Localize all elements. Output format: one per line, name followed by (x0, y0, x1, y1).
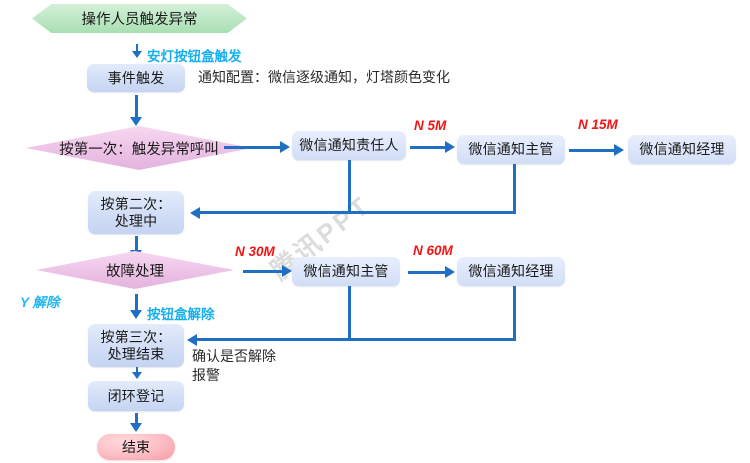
arrow-right-icon (445, 141, 455, 153)
node-closed-loop: 闭环登记 (88, 381, 184, 411)
connector-owner-drop (348, 160, 351, 213)
label-trigger-action: 安灯按钮盒触发 (147, 45, 242, 65)
node-notify-supervisor-2-label: 微信通知主管 (303, 263, 388, 280)
node-start: 操作人员触发异常 (32, 4, 247, 33)
node-press-third-label: 按第三次： 处理结束 (101, 329, 172, 363)
connector-press1-to-owner (224, 146, 282, 149)
node-closed-loop-label: 闭环登记 (108, 388, 165, 405)
node-press-first-label: 按第一次：触发异常呼叫 (59, 138, 219, 159)
node-end: 结束 (97, 434, 175, 460)
connector-supervisor-to-manager-2 (408, 271, 448, 274)
arrow-left-icon (190, 207, 200, 219)
arrow-right-icon (282, 265, 292, 277)
label-notify-config: 通知配置：微信逐级通知，灯塔颜色变化 (198, 68, 450, 87)
node-notify-manager-1: 微信通知经理 (628, 135, 736, 164)
node-event-trigger-label: 事件触发 (108, 70, 165, 87)
connector-manager2-drop (513, 286, 516, 340)
label-timer-60m: N 60M (413, 243, 453, 258)
node-notify-supervisor-2: 微信通知主管 (292, 257, 400, 286)
node-notify-manager-2: 微信通知经理 (457, 257, 565, 286)
connector-owner-to-supervisor-1 (410, 146, 448, 149)
arrow-down-icon (132, 51, 142, 58)
node-notify-supervisor-1-label: 微信通知主管 (468, 141, 553, 158)
node-press-first: 按第一次：触发异常呼叫 (26, 126, 252, 170)
node-notify-manager-1-label: 微信通知经理 (639, 141, 724, 158)
arrow-right-icon (280, 141, 290, 153)
arrow-left-icon (187, 334, 197, 346)
label-release-branch: Y 解除 (20, 291, 60, 311)
label-confirm-note: 确认是否解除 报警 (192, 347, 276, 385)
arrow-down-icon (130, 423, 142, 432)
arrow-right-icon (445, 266, 455, 278)
arrow-right-icon (614, 144, 624, 156)
connector-supervisor2-drop (348, 286, 351, 340)
connector-supervisor-to-manager-1 (569, 149, 617, 152)
node-fault-handling: 故障处理 (36, 251, 234, 289)
arrow-down-icon (132, 372, 142, 379)
node-notify-owner-1-label: 微信通知责任人 (299, 137, 398, 154)
arrow-down-icon (130, 310, 142, 319)
node-notify-manager-2-label: 微信通知经理 (468, 263, 553, 280)
node-press-third: 按第三次： 处理结束 (88, 324, 184, 367)
node-start-label: 操作人员触发异常 (82, 8, 198, 29)
node-end-label: 结束 (122, 437, 150, 457)
label-timer-30m: N 30M (235, 244, 275, 259)
label-timer-5m: N 5M (414, 118, 446, 133)
node-fault-handling-label: 故障处理 (106, 260, 164, 281)
node-notify-supervisor-1: 微信通知主管 (457, 135, 565, 164)
node-press-second-label: 按第二次： 处理中 (101, 196, 172, 230)
node-press-second: 按第二次： 处理中 (88, 191, 184, 234)
label-release-action: 按钮盒解除 (147, 303, 215, 323)
connector-feedback-lower (195, 338, 516, 341)
node-event-trigger: 事件触发 (87, 64, 185, 92)
connector-supervisor-drop (513, 164, 516, 213)
connector-feedback-top (198, 211, 516, 214)
label-timer-15m: N 15M (578, 117, 618, 132)
connector-fault-to-supervisor-2 (243, 270, 285, 273)
node-notify-owner-1: 微信通知责任人 (292, 131, 406, 160)
arrow-down-icon (130, 117, 142, 126)
flowchart-canvas: 腾讯PPT 操作人员触发异常 安灯按钮盒触发 事件触发 通知配置：微信逐级通知，… (0, 0, 750, 463)
